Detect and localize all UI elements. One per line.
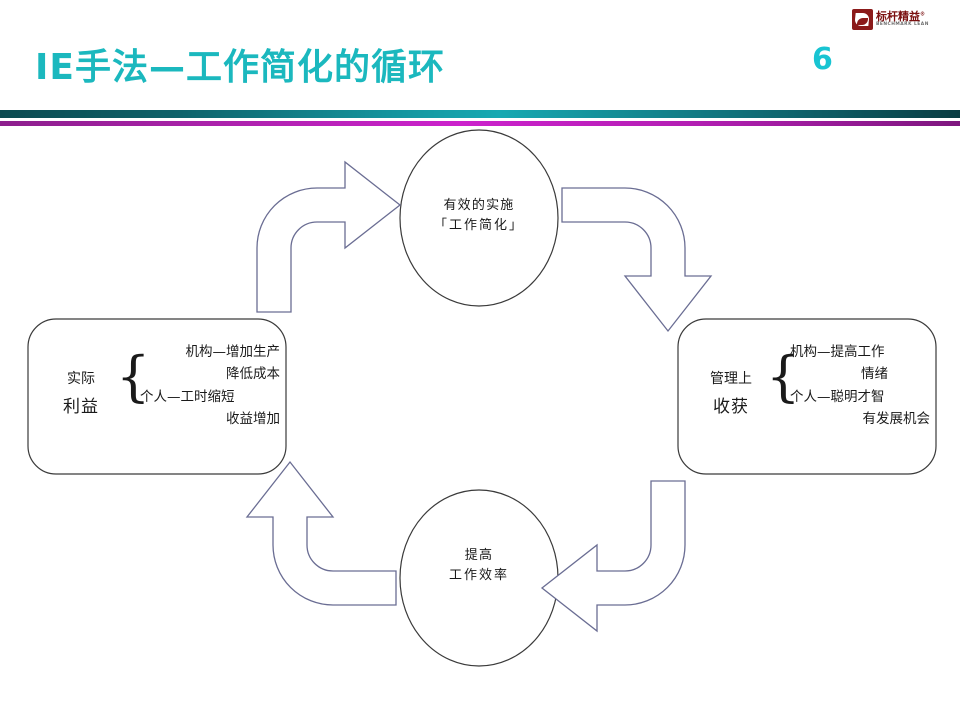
right-box-head: 管理上 收获	[686, 367, 776, 423]
top-circle-label: 有效的实施 「工作简化」	[399, 196, 559, 236]
left-box-item-3: 个人—工时缩短	[140, 386, 280, 408]
left-box-item-1: 机构—增加生产	[140, 341, 280, 363]
left-box-head: 实际 利益	[36, 367, 126, 423]
arrow-top-to-right	[562, 188, 711, 331]
page-title: IE手法—工作简化的循环	[35, 38, 445, 90]
left-box-head-line-1: 实际	[36, 367, 126, 392]
right-box-head-line-2: 收获	[686, 392, 776, 423]
right-box-item-2: 情绪	[790, 363, 930, 385]
bottom-circle-line-2: 工作效率	[399, 566, 559, 586]
slide-canvas: 标杆精益® BENCHMARK LEAN IE手法—工作简化的循环 6	[0, 0, 960, 720]
logo-text: 标杆精益® BENCHMARK LEAN	[876, 11, 929, 27]
arrow-bottom-to-left	[247, 462, 396, 605]
bottom-circle-label: 提高 工作效率	[399, 546, 559, 586]
top-circle-line-1: 有效的实施	[399, 196, 559, 216]
top-circle-line-2: 「工作简化」	[399, 216, 559, 236]
right-box-item-1: 机构—提高工作	[790, 341, 930, 363]
logo-mark-icon	[852, 9, 873, 30]
arrow-left-to-top	[257, 162, 400, 312]
left-box-item-2: 降低成本	[140, 363, 280, 385]
right-box-head-line-1: 管理上	[686, 367, 776, 392]
right-box-items: 机构—提高工作 情绪 个人—聪明才智 有发展机会	[790, 341, 930, 430]
bottom-circle-line-1: 提高	[399, 546, 559, 566]
page-number: 6	[812, 42, 833, 77]
arrow-right-to-bottom	[542, 481, 685, 631]
right-box-item-4: 有发展机会	[790, 408, 930, 430]
logo-registered-mark: ®	[920, 11, 925, 17]
cycle-diagram: 有效的实施 「工作简化」 提高 工作效率 实际 利益 { 机构—增加生产 降低成…	[0, 128, 960, 720]
slide-header: 标杆精益® BENCHMARK LEAN IE手法—工作简化的循环 6	[0, 0, 960, 128]
header-rule-purple	[0, 121, 960, 126]
logo-brand-cn: 标杆精益®	[876, 11, 929, 22]
header-rule-teal	[0, 110, 960, 118]
company-logo: 标杆精益® BENCHMARK LEAN	[852, 5, 948, 33]
left-box-item-4: 收益增加	[140, 408, 280, 430]
left-box-head-line-2: 利益	[36, 392, 126, 423]
left-box-items: 机构—增加生产 降低成本 个人—工时缩短 收益增加	[140, 341, 280, 430]
right-box-item-3: 个人—聪明才智	[790, 386, 930, 408]
logo-brand-en: BENCHMARK LEAN	[876, 23, 929, 27]
